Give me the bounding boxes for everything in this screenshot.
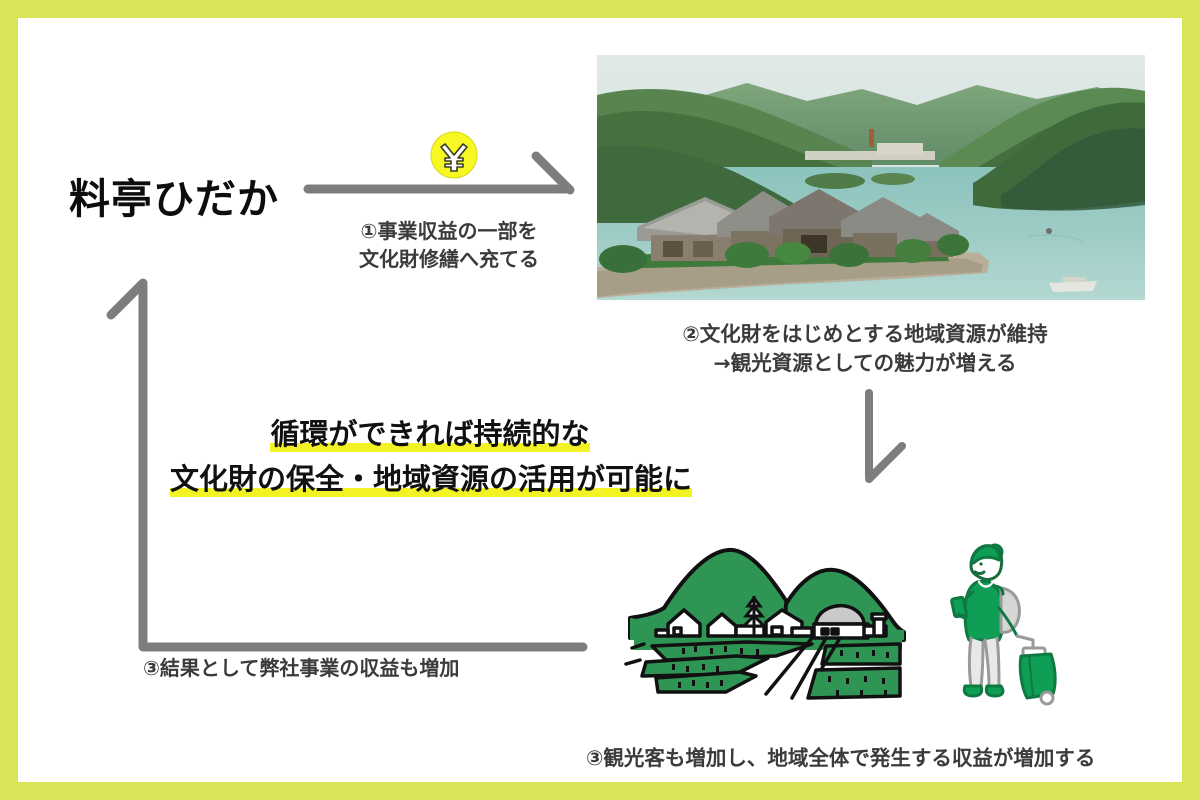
yen-coin-icon xyxy=(429,130,479,180)
slide-canvas: 料亭ひだか ①事業収益の一部を 文化財修繕へ充てる ②文化財をはじめとする地域資… xyxy=(18,18,1182,782)
page-title: 料亭ひだか xyxy=(69,165,279,225)
step1-caption: ①事業収益の一部を 文化財修繕へ充てる xyxy=(340,217,558,274)
step4-caption: ③観光客も増加し、地域全体で発生する収益が増加する xyxy=(586,744,1095,773)
traveler-illustration xyxy=(943,536,1063,718)
arrow-down-icon xyxy=(869,393,902,479)
key-message-line-2-text: 文化財の保全・地域資源の活用が可能に xyxy=(170,462,692,497)
step3-caption: ③結果として弊社事業の収益も増加 xyxy=(143,654,459,682)
key-message: 循環ができれば持続的な 文化財の保全・地域資源の活用が可能に xyxy=(170,420,690,510)
village-photo-image xyxy=(597,55,1145,300)
key-message-line-1: 循環ができれば持続的な xyxy=(170,420,690,449)
rural-village-illustration xyxy=(616,534,916,719)
key-message-line-1-text: 循環ができれば持続的な xyxy=(270,417,589,452)
village-photo xyxy=(597,55,1145,300)
key-message-line-2: 文化財の保全・地域資源の活用が可能に xyxy=(170,465,690,494)
step2-caption: ②文化財をはじめとする地域資源が維持 →観光資源としての魅力が増える xyxy=(645,320,1085,378)
